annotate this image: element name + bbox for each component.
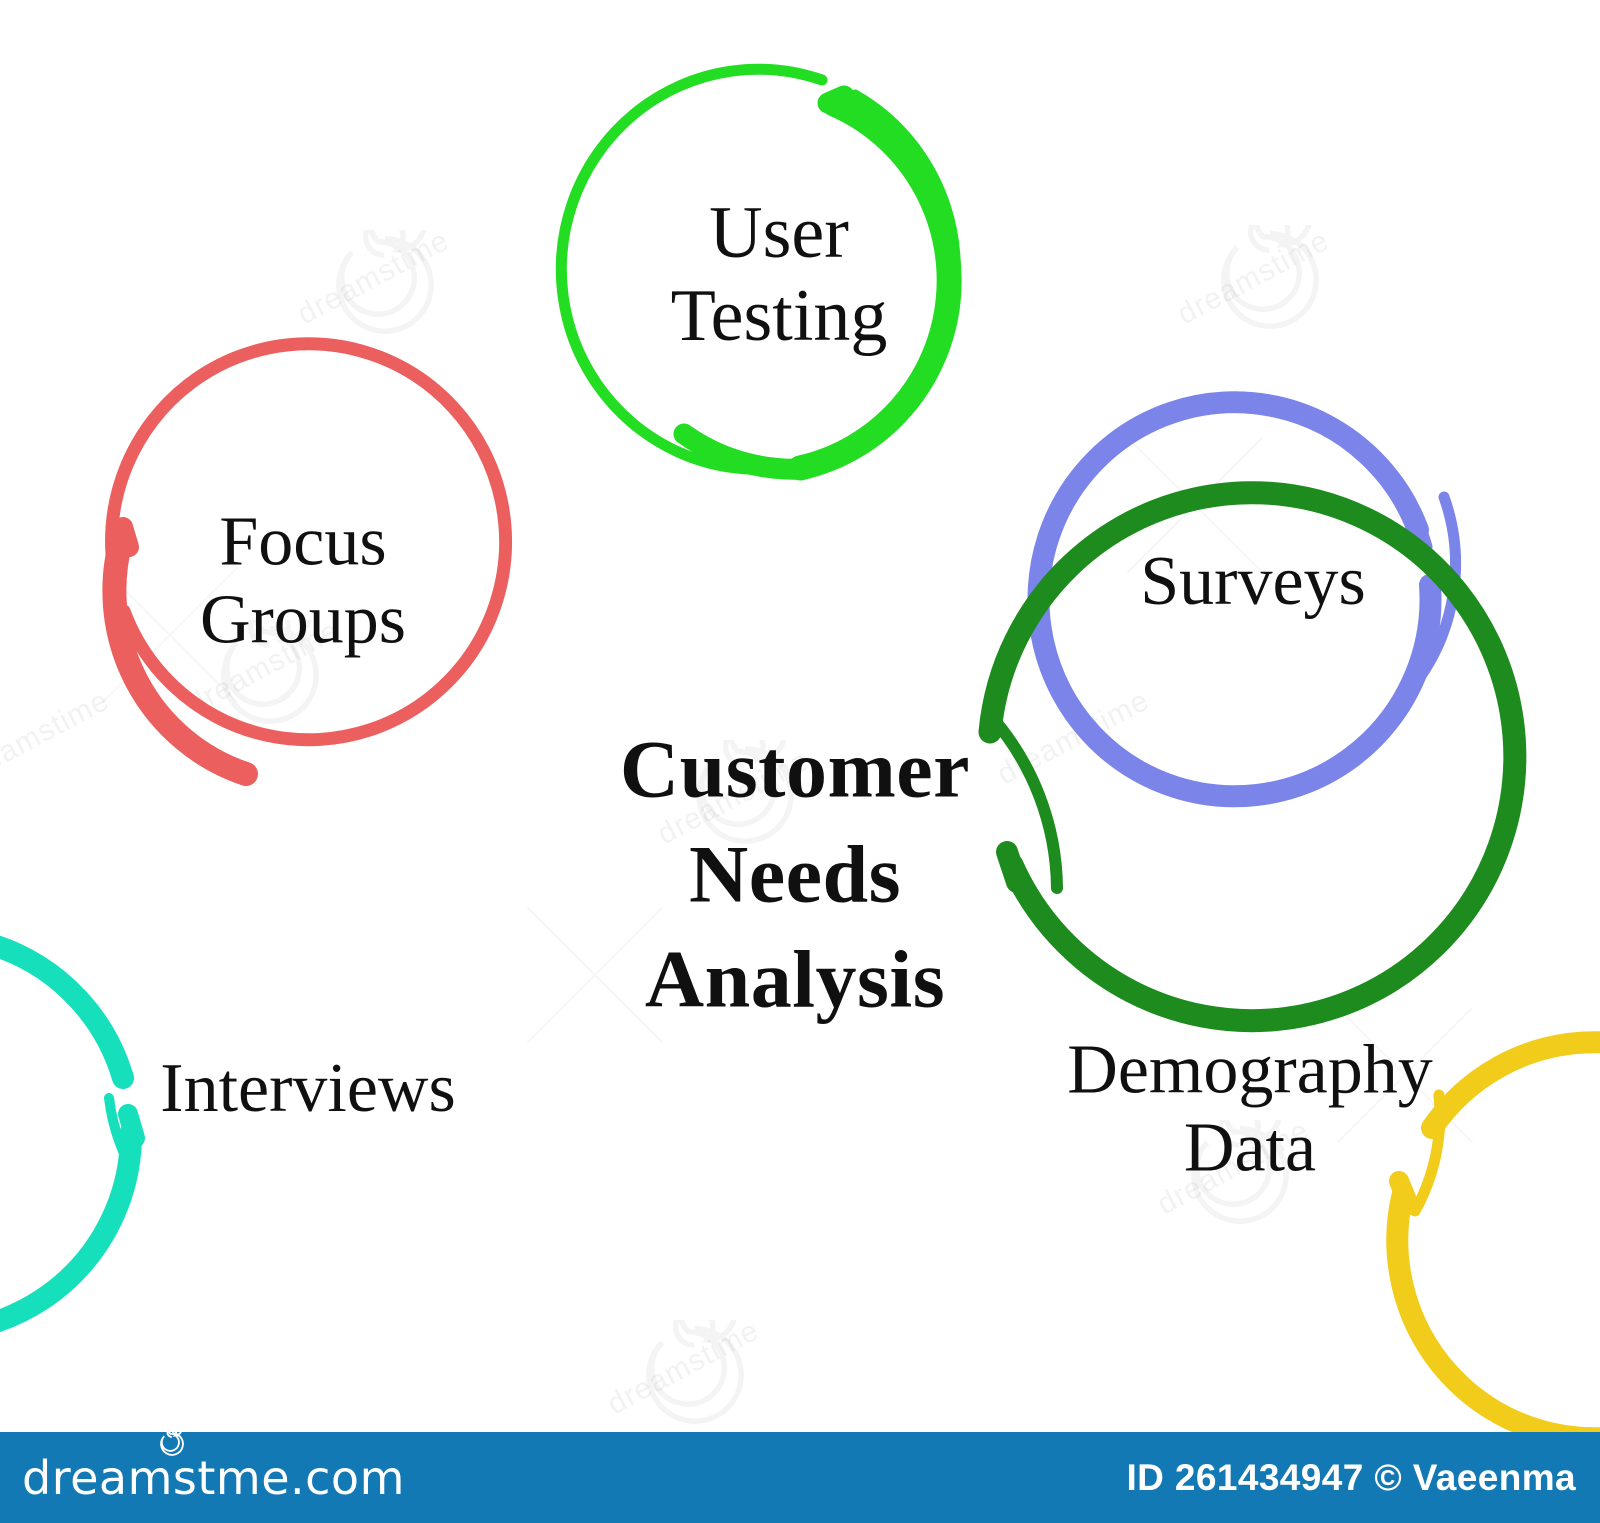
center-label-line-1: Customer xyxy=(526,718,1064,823)
brand-prefix: drea xyxy=(22,1451,128,1505)
user-testing-label-line-2: Testing xyxy=(578,275,980,358)
spiral-icon xyxy=(640,1320,750,1430)
center-label-line-2: Needs xyxy=(526,823,1064,928)
focus-groups-label-line-2: Groups xyxy=(102,582,504,660)
node-user-testing[interactable]: User Testing xyxy=(572,68,986,482)
diagram-canvas: dreamstime dreamstime dreamstime dreamst… xyxy=(0,0,1600,1523)
brand-suffix: me.com xyxy=(216,1451,405,1505)
user-testing-label: User Testing xyxy=(572,192,986,358)
surveys-label-line-1: Surveys xyxy=(1052,543,1454,621)
node-interviews[interactable]: Interviews xyxy=(101,882,515,1296)
brand-mid: mst xyxy=(128,1451,216,1505)
focus-groups-label-line-1: Focus xyxy=(102,504,504,582)
demography-data-label: Demography Data xyxy=(1043,1032,1457,1189)
interviews-label: Interviews xyxy=(101,1050,515,1128)
watermark-text: dreamstime xyxy=(292,224,455,332)
image-credit: ID 261434947 © Vaeenma xyxy=(1126,1457,1576,1499)
spiral-icon xyxy=(330,230,440,340)
stock-photo-footer: dreamstme.com ID 261434947 © Vaeenma xyxy=(0,1432,1600,1523)
spiral-icon xyxy=(1215,225,1325,335)
watermark-text: dreamstime xyxy=(1172,224,1335,332)
spiral-logo-icon xyxy=(159,1431,185,1457)
surveys-label: Surveys xyxy=(1046,543,1460,621)
center-label-line-3: Analysis xyxy=(526,927,1064,1032)
focus-groups-label: Focus Groups xyxy=(96,504,510,661)
brand-spiral-wrap: mst xyxy=(128,1451,216,1505)
interviews-label-line-1: Interviews xyxy=(107,1050,509,1128)
user-testing-label-line-1: User xyxy=(578,192,980,275)
node-surveys[interactable]: Surveys xyxy=(1046,375,1460,789)
node-focus-groups[interactable]: Focus Groups xyxy=(96,375,510,789)
dreamstime-logo[interactable]: dreamstme.com xyxy=(22,1451,405,1505)
customer-needs-analysis-label: Customer Needs Analysis xyxy=(520,718,1070,1033)
node-customer-needs-analysis[interactable]: Customer Needs Analysis xyxy=(520,600,1070,1150)
demography-data-label-line-1: Demography xyxy=(1049,1032,1451,1110)
demography-data-label-line-2: Data xyxy=(1049,1110,1451,1188)
watermark-text: dreamstime xyxy=(602,1314,765,1422)
